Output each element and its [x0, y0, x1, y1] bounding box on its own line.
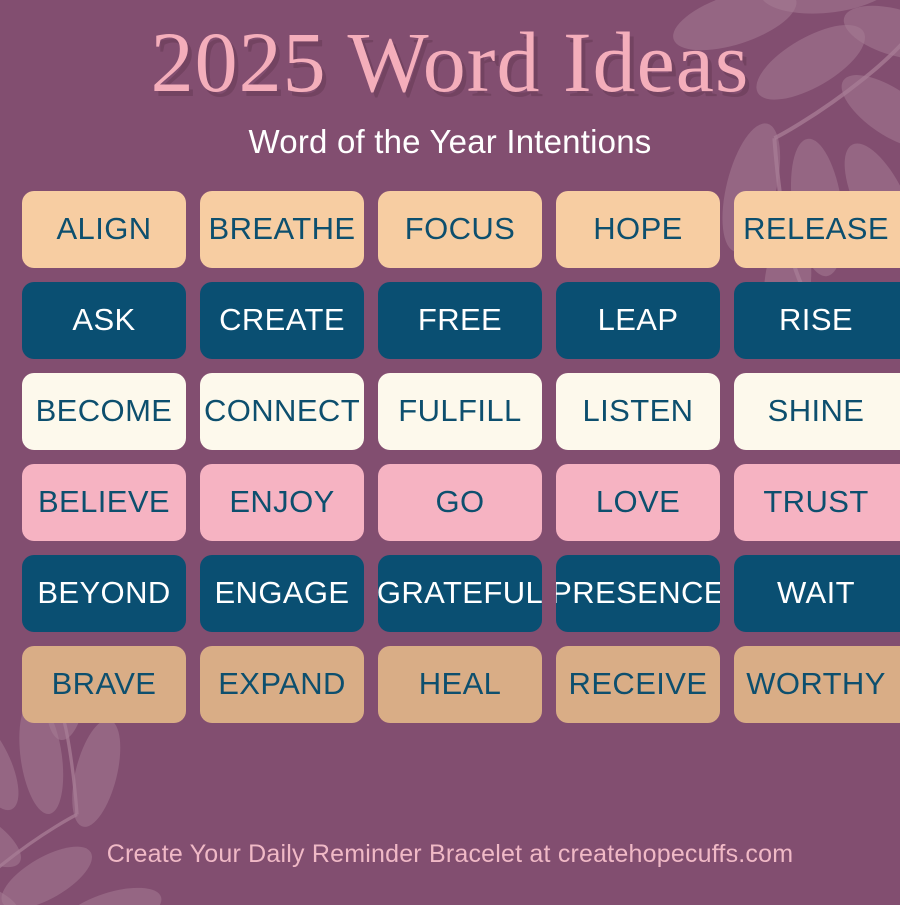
word-chip[interactable]: ENGAGE: [200, 555, 364, 632]
word-row: BELIEVE ENJOY GO LOVE TRUST: [0, 464, 900, 541]
page-title: 2025 Word Ideas: [0, 16, 900, 109]
word-ideas-poster: 2025 Word Ideas Word of the Year Intenti…: [0, 0, 900, 905]
word-row: BECOME CONNECT FULFILL LISTEN SHINE: [0, 373, 900, 450]
word-chip[interactable]: LISTEN: [556, 373, 720, 450]
word-grid: ALIGN BREATHE FOCUS HOPE RELEASE ASK CRE…: [0, 191, 900, 723]
word-chip[interactable]: SHINE: [734, 373, 900, 450]
word-chip[interactable]: LEAP: [556, 282, 720, 359]
word-chip[interactable]: FULFILL: [378, 373, 542, 450]
word-chip[interactable]: GO: [378, 464, 542, 541]
word-chip[interactable]: PRESENCE: [556, 555, 720, 632]
footer-text: Create Your Daily Reminder Bracelet at c…: [0, 840, 900, 869]
word-chip[interactable]: WAIT: [734, 555, 900, 632]
word-chip[interactable]: WORTHY: [734, 646, 900, 723]
poster-header: 2025 Word Ideas Word of the Year Intenti…: [0, 0, 900, 161]
word-row: BEYOND ENGAGE GRATEFUL PRESENCE WAIT: [0, 555, 900, 632]
word-chip[interactable]: HEAL: [378, 646, 542, 723]
word-chip[interactable]: LOVE: [556, 464, 720, 541]
word-chip[interactable]: ALIGN: [22, 191, 186, 268]
word-chip[interactable]: BRAVE: [22, 646, 186, 723]
word-chip[interactable]: BELIEVE: [22, 464, 186, 541]
word-chip[interactable]: FREE: [378, 282, 542, 359]
word-chip[interactable]: TRUST: [734, 464, 900, 541]
word-chip[interactable]: RECEIVE: [556, 646, 720, 723]
page-subtitle: Word of the Year Intentions: [0, 123, 900, 161]
word-chip[interactable]: BREATHE: [200, 191, 364, 268]
word-chip[interactable]: FOCUS: [378, 191, 542, 268]
word-row: BRAVE EXPAND HEAL RECEIVE WORTHY: [0, 646, 900, 723]
word-row: ASK CREATE FREE LEAP RISE: [0, 282, 900, 359]
word-chip[interactable]: RISE: [734, 282, 900, 359]
word-chip[interactable]: CONNECT: [200, 373, 364, 450]
word-chip[interactable]: RELEASE: [734, 191, 900, 268]
word-chip[interactable]: ENJOY: [200, 464, 364, 541]
word-chip[interactable]: BEYOND: [22, 555, 186, 632]
word-chip[interactable]: CREATE: [200, 282, 364, 359]
word-chip[interactable]: ASK: [22, 282, 186, 359]
word-chip[interactable]: BECOME: [22, 373, 186, 450]
word-chip[interactable]: HOPE: [556, 191, 720, 268]
word-row: ALIGN BREATHE FOCUS HOPE RELEASE: [0, 191, 900, 268]
word-chip[interactable]: EXPAND: [200, 646, 364, 723]
word-chip[interactable]: GRATEFUL: [378, 555, 542, 632]
